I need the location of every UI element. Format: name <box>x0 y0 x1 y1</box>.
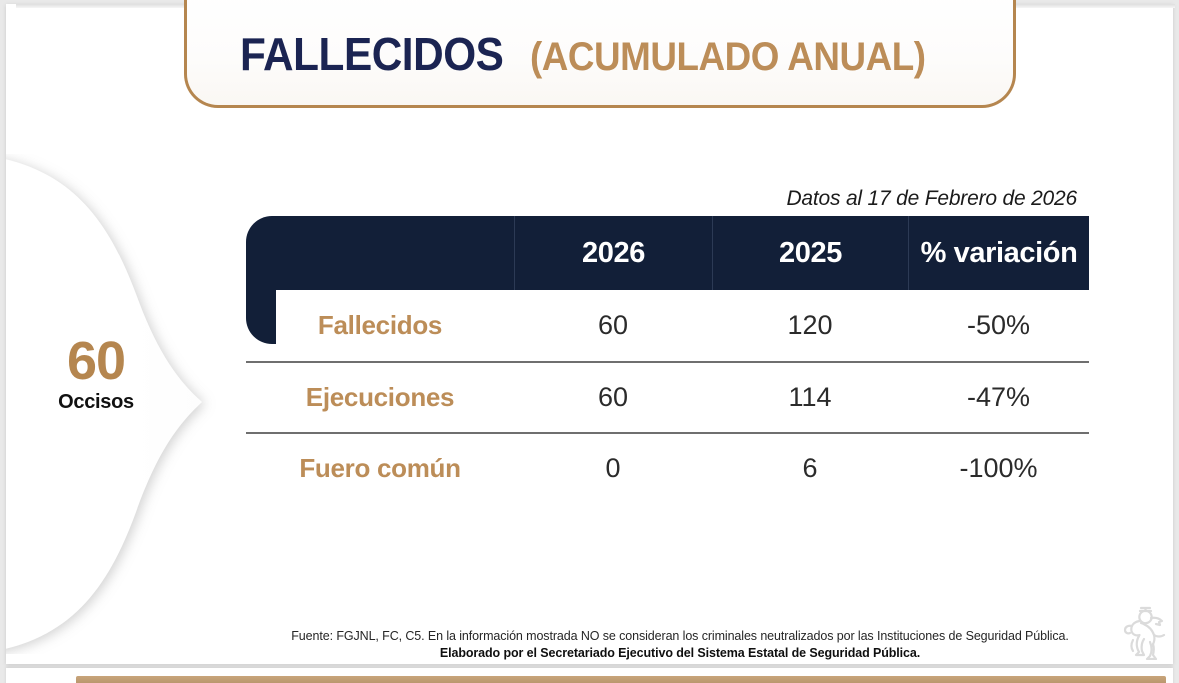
row-label: Fallecidos <box>246 310 514 341</box>
next-slide-title-bar <box>76 676 1166 683</box>
footer-author-note: Elaborado por el Secretariado Ejecutivo … <box>246 645 1114 662</box>
slide-title-sub: (ACUMULADO ANUAL) <box>530 35 926 80</box>
slide-title-banner: FALLECIDOS(ACUMULADO ANUAL) <box>184 0 1016 108</box>
table-row: Fallecidos 60 120 -50% <box>246 290 1089 361</box>
heraldic-lion-emblem-icon <box>1119 602 1175 660</box>
table-header-2025: 2025 <box>712 216 908 290</box>
row-value-2026: 0 <box>514 453 712 484</box>
row-value-2025: 114 <box>712 382 908 413</box>
next-slide-preview[interactable] <box>6 668 1173 683</box>
row-label: Fuero común <box>246 453 514 484</box>
slide-title: FALLECIDOS(ACUMULADO ANUAL) <box>240 27 960 81</box>
row-value-2026: 60 <box>514 310 712 341</box>
row-value-2026: 60 <box>514 382 712 413</box>
table-header-row: 2026 2025 % variación <box>246 216 1089 290</box>
footer-source-note: Fuente: FGJNL, FC, C5. En la información… <box>246 628 1114 645</box>
table-row: Fuero común 0 6 -100% <box>246 432 1089 503</box>
row-value-2025: 120 <box>712 310 908 341</box>
row-value-variation: -100% <box>908 453 1089 484</box>
row-value-variation: -47% <box>908 382 1089 413</box>
slide-footer: Fuente: FGJNL, FC, C5. En la información… <box>246 628 1114 662</box>
table-row: Ejecuciones 60 114 -47% <box>246 361 1089 432</box>
kpi-value: 60 <box>28 336 164 387</box>
slide-title-main: FALLECIDOS <box>240 27 503 81</box>
slide-canvas: FALLECIDOS(ACUMULADO ANUAL) 60 Occisos D… <box>6 4 1173 664</box>
fallecidos-table: 2026 2025 % variación Fallecidos 60 120 … <box>246 216 1089 503</box>
row-value-variation: -50% <box>908 310 1089 341</box>
table-header-2026: 2026 <box>514 216 712 290</box>
table-body: Fallecidos 60 120 -50% Ejecuciones 60 11… <box>246 290 1089 503</box>
table-header-blank <box>246 216 514 290</box>
row-value-2025: 6 <box>712 453 908 484</box>
data-as-of-note: Datos al 17 de Febrero de 2026 <box>786 187 1077 211</box>
kpi-occisos: 60 Occisos <box>28 336 164 414</box>
presentation-viewport: FALLECIDOS(ACUMULADO ANUAL) 60 Occisos D… <box>0 0 1179 683</box>
table-header-variation: % variación <box>908 216 1089 290</box>
row-label: Ejecuciones <box>246 382 514 413</box>
kpi-label: Occisos <box>28 391 164 414</box>
